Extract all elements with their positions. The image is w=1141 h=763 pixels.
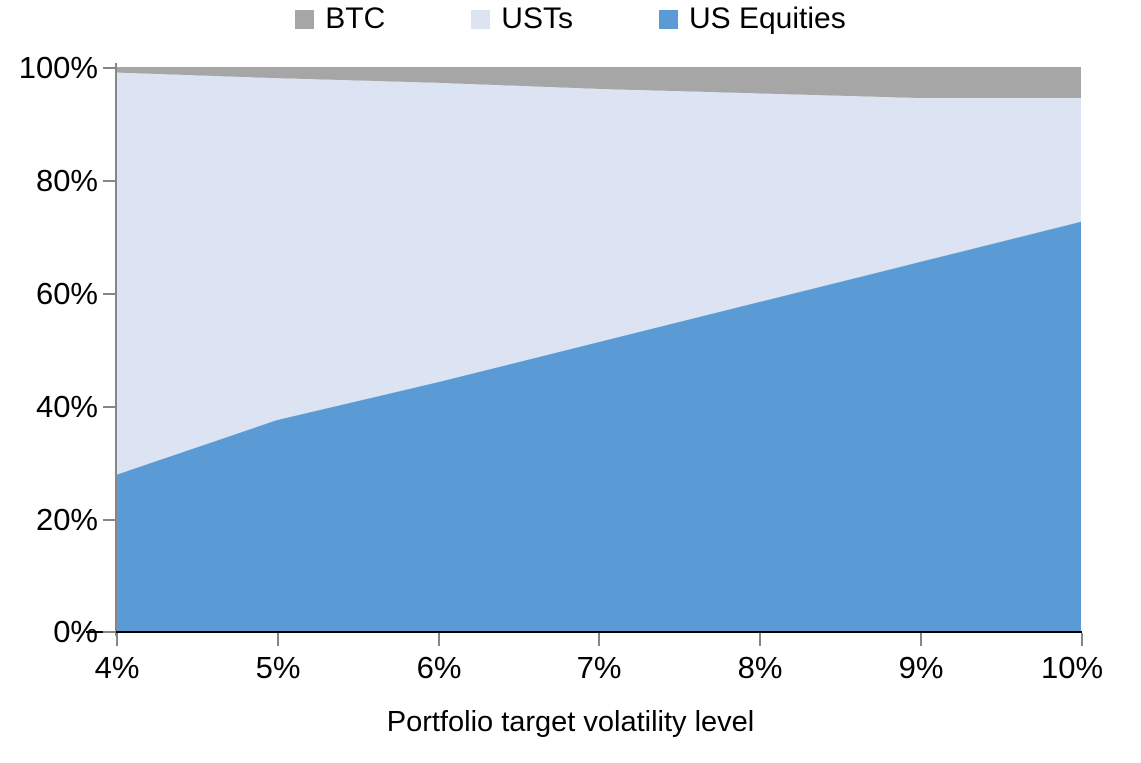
legend-label-usts: USTs bbox=[501, 4, 573, 34]
y-tick-mark-80 bbox=[103, 180, 116, 182]
y-tick-label-40: 40% bbox=[36, 391, 98, 422]
x-tick-mark-9 bbox=[920, 633, 922, 646]
x-tick-label-7: 7% bbox=[577, 652, 622, 683]
y-tick-mark-0 bbox=[103, 631, 116, 633]
legend-label-us-equities: US Equities bbox=[689, 4, 846, 34]
plot-svg bbox=[116, 67, 1081, 632]
stacked-area-chart: BTC USTs US Equities 100% 80% 60% 40% 20… bbox=[0, 0, 1141, 763]
x-axis-title: Portfolio target volatility level bbox=[0, 708, 1141, 737]
legend-item-us-equities[interactable]: US Equities bbox=[659, 4, 846, 34]
y-tick-mark-100 bbox=[103, 67, 116, 69]
legend-item-btc[interactable]: BTC bbox=[295, 4, 385, 34]
y-tick-mark-20 bbox=[103, 519, 116, 521]
x-tick-mark-6 bbox=[438, 633, 440, 646]
legend-item-usts[interactable]: USTs bbox=[471, 4, 573, 34]
legend-label-btc: BTC bbox=[325, 4, 385, 34]
y-tick-label-60: 60% bbox=[36, 278, 98, 309]
plot-area bbox=[116, 67, 1081, 632]
x-tick-label-8: 8% bbox=[738, 652, 783, 683]
x-tick-label-5: 5% bbox=[256, 652, 301, 683]
x-tick-label-9: 9% bbox=[899, 652, 944, 683]
x-tick-mark-4 bbox=[116, 633, 118, 646]
x-tick-mark-7 bbox=[598, 633, 600, 646]
x-tick-label-10: 10% bbox=[1041, 652, 1103, 683]
y-tick-mark-60 bbox=[103, 293, 116, 295]
y-tick-mark-40 bbox=[103, 406, 116, 408]
legend-swatch-usts bbox=[471, 10, 490, 29]
x-tick-mark-8 bbox=[759, 633, 761, 646]
x-axis-line bbox=[86, 631, 1082, 633]
y-tick-label-80: 80% bbox=[36, 165, 98, 196]
y-axis-line bbox=[115, 63, 117, 636]
y-tick-label-0: 0% bbox=[53, 616, 98, 647]
y-tick-label-20: 20% bbox=[36, 504, 98, 535]
x-tick-mark-10 bbox=[1081, 633, 1083, 646]
chart-legend: BTC USTs US Equities bbox=[0, 4, 1141, 34]
legend-swatch-btc bbox=[295, 10, 314, 29]
x-tick-label-4: 4% bbox=[95, 652, 140, 683]
y-tick-label-100: 100% bbox=[19, 52, 98, 83]
legend-swatch-us-equities bbox=[659, 10, 678, 29]
x-tick-label-6: 6% bbox=[417, 652, 462, 683]
x-tick-mark-5 bbox=[277, 633, 279, 646]
